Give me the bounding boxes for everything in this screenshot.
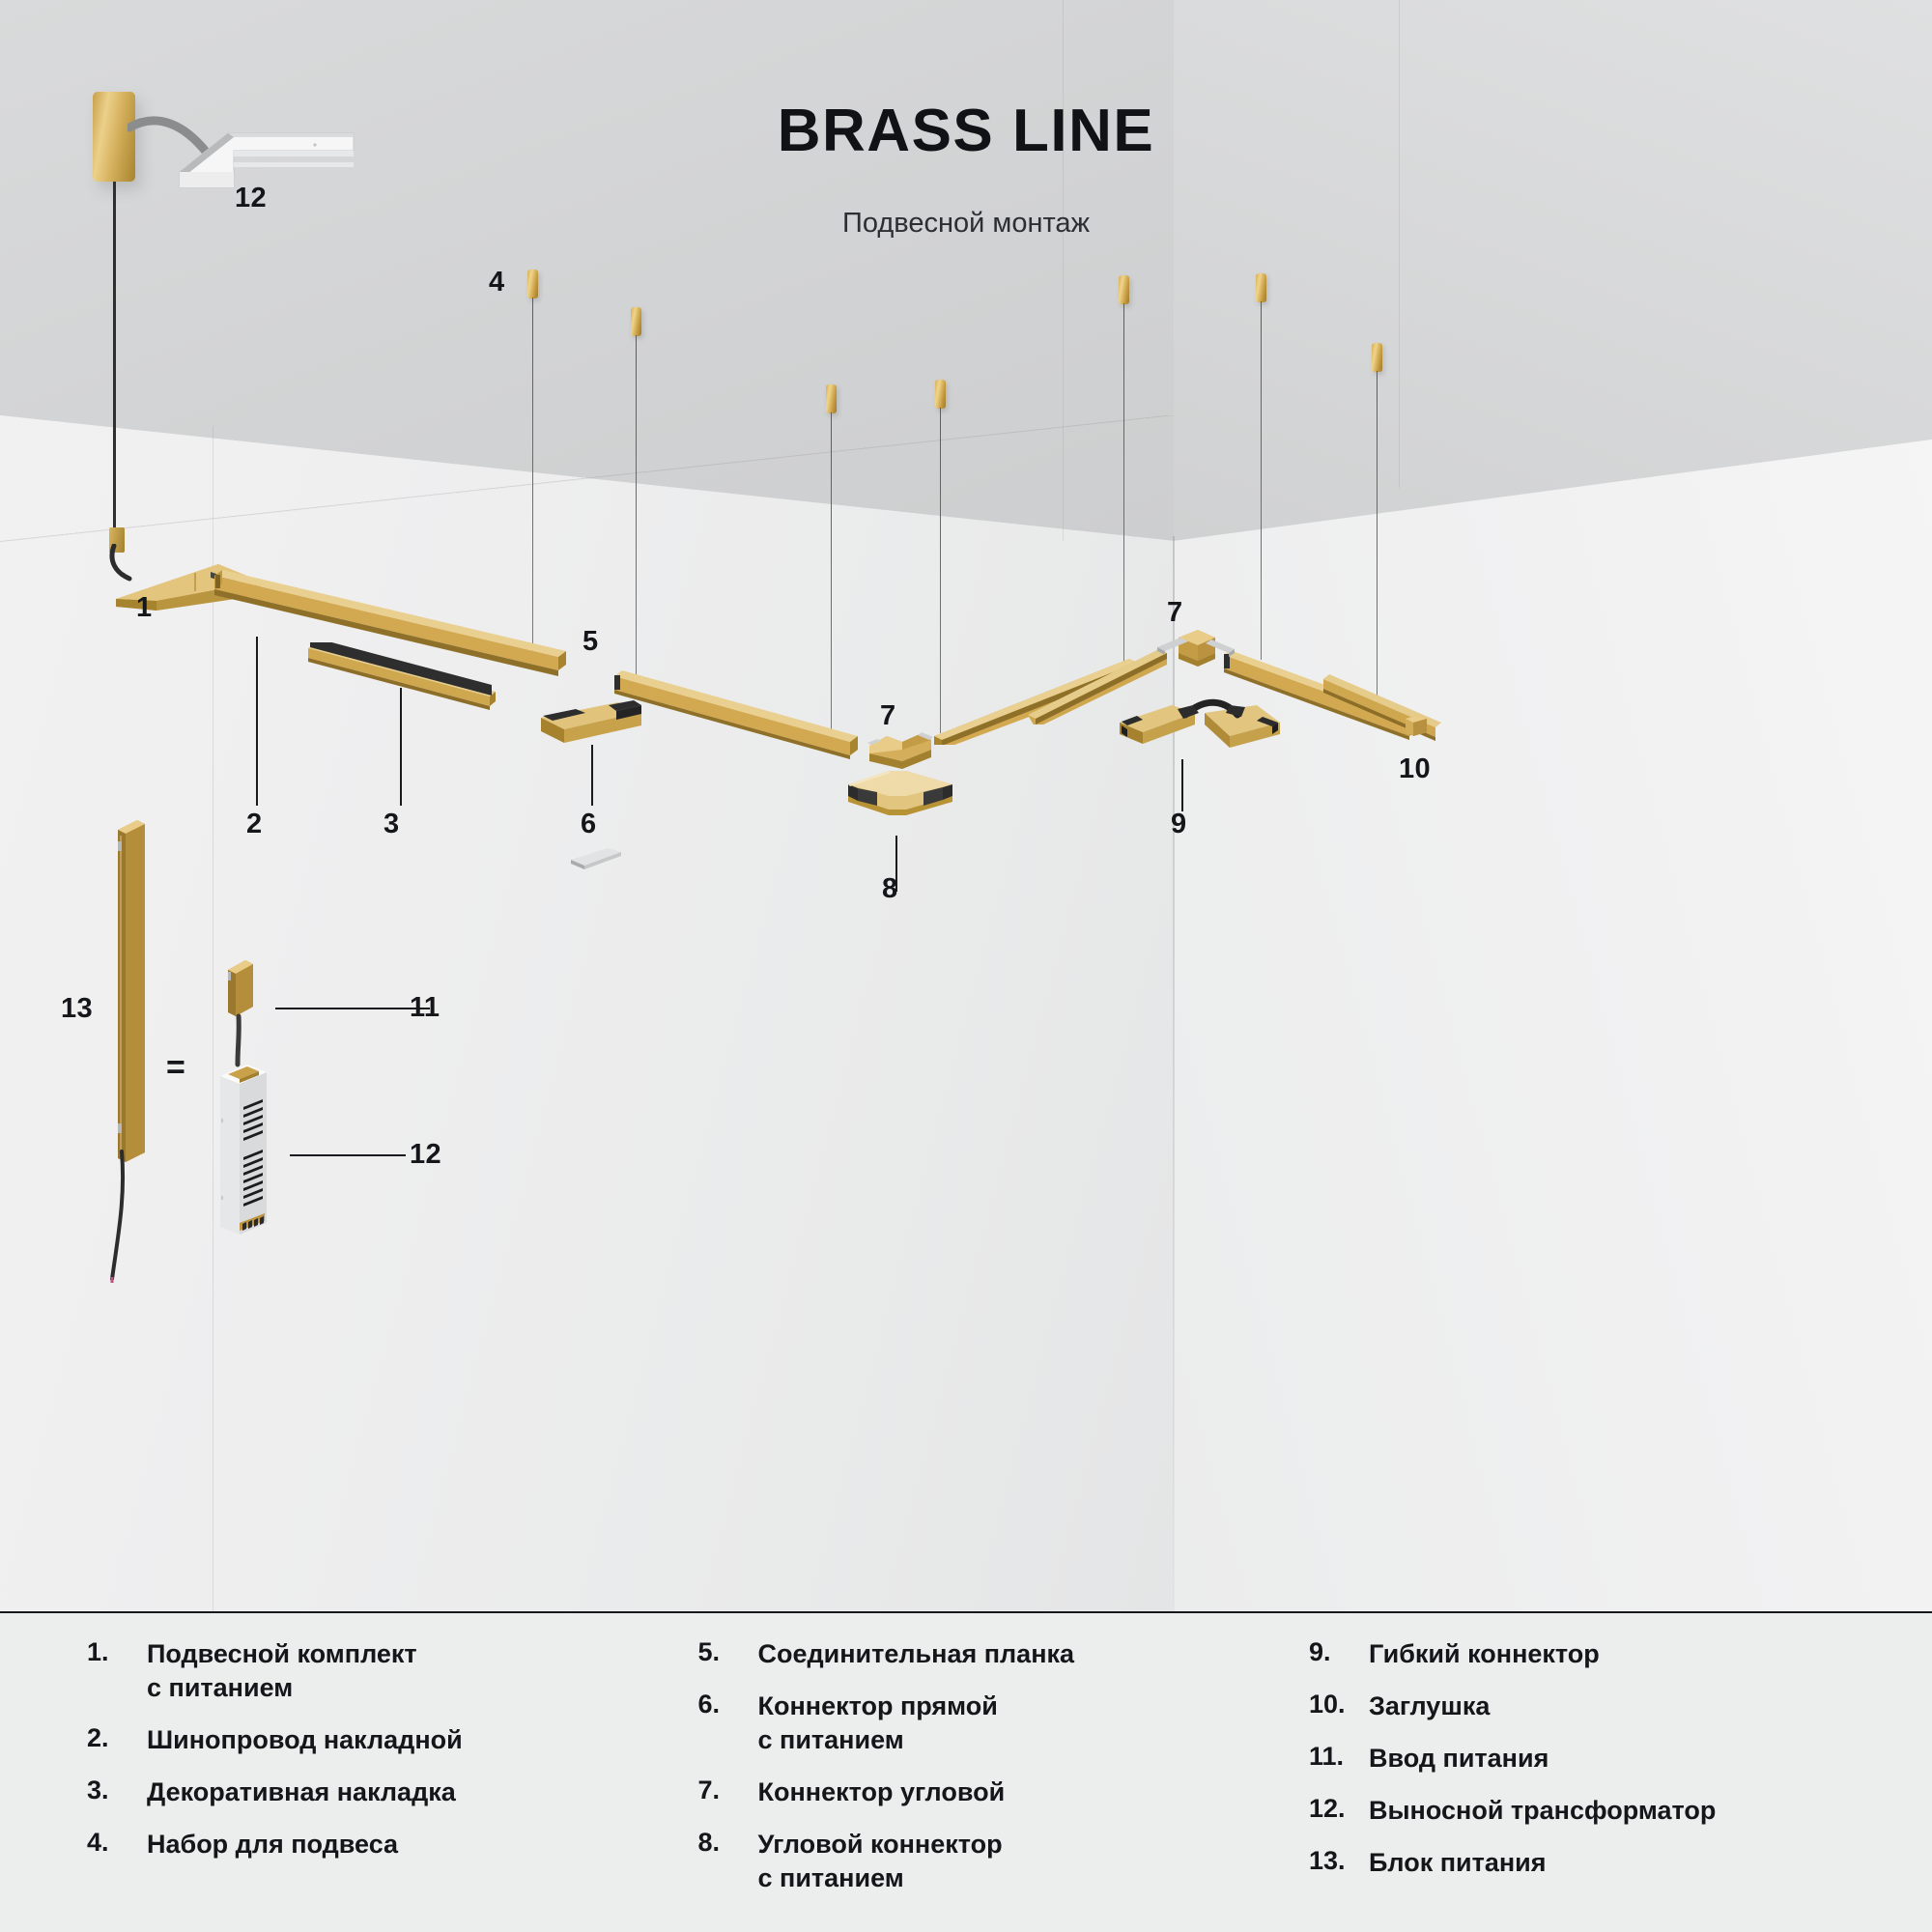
leader-2 bbox=[256, 637, 258, 806]
legend-item: 1. Подвесной комплект с питанием bbox=[87, 1637, 698, 1705]
leader-3 bbox=[400, 688, 402, 806]
leader-6 bbox=[591, 745, 593, 806]
ceiling-mount-2 bbox=[631, 307, 641, 336]
legend-item-label: Заглушка bbox=[1369, 1690, 1490, 1723]
ceiling-mount-1 bbox=[527, 270, 538, 298]
ceiling-mount-5 bbox=[1119, 275, 1129, 304]
page-title: BRASS LINE bbox=[0, 97, 1932, 165]
legend-item: 10. Заглушка bbox=[1309, 1690, 1864, 1723]
legend-column-3: 9. Гибкий коннектор 10. Заглушка 11. Вво… bbox=[1309, 1637, 1864, 1932]
end-cap bbox=[1402, 713, 1431, 742]
legend-item-number: 11. bbox=[1309, 1742, 1369, 1776]
flexible-connector bbox=[1116, 694, 1285, 757]
legend-item: 13. Блок питания bbox=[1309, 1846, 1864, 1880]
callout-10: 10 bbox=[1399, 755, 1431, 783]
page-subtitle: Подвесной монтаж bbox=[0, 208, 1932, 240]
wall-seam-b bbox=[1063, 0, 1064, 541]
legend-item: 5. Соединительная планка bbox=[698, 1637, 1310, 1671]
callout-11: 11 bbox=[410, 994, 440, 1022]
legend-item: 6. Коннектор прямой с питанием bbox=[698, 1690, 1310, 1757]
connecting-plate bbox=[569, 846, 623, 871]
legend-item-label: Шинопровод накладной bbox=[147, 1723, 463, 1757]
legend-item-label: Ввод питания bbox=[1369, 1742, 1548, 1776]
remote-transformer-box bbox=[214, 1061, 282, 1235]
legend-item: 8. Угловой коннектор с питанием bbox=[698, 1828, 1310, 1895]
legend-item-number: 6. bbox=[698, 1690, 758, 1757]
leader-9 bbox=[1181, 759, 1183, 811]
suspension-cable-2 bbox=[636, 335, 637, 676]
legend-item: 9. Гибкий коннектор bbox=[1309, 1637, 1864, 1671]
callout-12-bottom: 12 bbox=[410, 1141, 441, 1169]
callout-8: 8 bbox=[882, 875, 898, 903]
callout-6: 6 bbox=[581, 810, 597, 838]
legend-item-label: Блок питания bbox=[1369, 1846, 1547, 1880]
legend-item-number: 4. bbox=[87, 1828, 147, 1861]
leader-11 bbox=[275, 1008, 430, 1009]
legend-item-number: 13. bbox=[1309, 1846, 1369, 1880]
legend-item: 12. Выносной трансформатор bbox=[1309, 1794, 1864, 1828]
callout-13: 13 bbox=[61, 995, 93, 1023]
legend-item-label: Гибкий коннектор bbox=[1369, 1637, 1600, 1671]
legend-divider bbox=[0, 1611, 1932, 1613]
power-input-connector bbox=[220, 954, 261, 1070]
equals-symbol: = bbox=[166, 1049, 185, 1087]
callout-4: 4 bbox=[489, 269, 505, 297]
legend-item-label: Коннектор угловой bbox=[758, 1776, 1006, 1809]
callout-1: 1 bbox=[136, 594, 153, 622]
legend-item: 4. Набор для подвеса bbox=[87, 1828, 698, 1861]
legend-item-label: Выносной трансформатор bbox=[1369, 1794, 1716, 1828]
suspension-cable-6 bbox=[1261, 301, 1262, 660]
angular-connector-with-power bbox=[842, 767, 958, 825]
legend-item: 7. Коннектор угловой bbox=[698, 1776, 1310, 1809]
callout-7-left: 7 bbox=[880, 702, 896, 730]
ceiling-mount-6 bbox=[1256, 273, 1266, 302]
room-scene: 12 1 2 bbox=[0, 0, 1932, 1611]
legend-item-label: Соединительная планка bbox=[758, 1637, 1075, 1671]
legend-item: 3. Декоративная накладка bbox=[87, 1776, 698, 1809]
ceiling-mount-4 bbox=[935, 380, 946, 409]
legend: 1. Подвесной комплект с питанием 2. Шино… bbox=[0, 1637, 1932, 1932]
leader-12 bbox=[290, 1154, 406, 1156]
callout-3: 3 bbox=[384, 810, 400, 838]
legend-item: 2. Шинопровод накладной bbox=[87, 1723, 698, 1757]
legend-item: 11. Ввод питания bbox=[1309, 1742, 1864, 1776]
legend-item-number: 10. bbox=[1309, 1690, 1369, 1723]
legend-column-1: 1. Подвесной комплект с питанием 2. Шино… bbox=[87, 1637, 698, 1932]
legend-item-number: 7. bbox=[698, 1776, 758, 1809]
callout-9: 9 bbox=[1171, 810, 1187, 838]
legend-item-label: Декоративная накладка bbox=[147, 1776, 456, 1809]
suspension-cable-5 bbox=[1123, 303, 1124, 663]
legend-item-number: 12. bbox=[1309, 1794, 1369, 1828]
legend-item-label: Подвесной комплект с питанием bbox=[147, 1637, 417, 1705]
corner-connector-right bbox=[1151, 628, 1243, 678]
ceiling-mount-7 bbox=[1372, 343, 1382, 372]
legend-item-number: 5. bbox=[698, 1637, 758, 1671]
wall-seam-c bbox=[1399, 0, 1400, 488]
legend-item-number: 8. bbox=[698, 1828, 758, 1895]
power-supply-cable bbox=[104, 1150, 143, 1285]
diagram-canvas: 12 1 2 bbox=[0, 0, 1932, 1932]
surface-track-profile-b bbox=[612, 668, 864, 760]
straight-connector-with-power bbox=[537, 700, 645, 751]
legend-item-number: 9. bbox=[1309, 1637, 1369, 1671]
legend-item-label: Набор для подвеса bbox=[147, 1828, 398, 1861]
legend-item-number: 3. bbox=[87, 1776, 147, 1809]
callout-5: 5 bbox=[582, 628, 599, 656]
legend-item-label: Угловой коннектор с питанием bbox=[758, 1828, 1003, 1895]
ceiling-mount-3 bbox=[826, 384, 837, 413]
legend-item-number: 1. bbox=[87, 1637, 147, 1705]
callout-7-right: 7 bbox=[1167, 599, 1183, 627]
legend-item-number: 2. bbox=[87, 1723, 147, 1757]
legend-column-2: 5. Соединительная планка 6. Коннектор пр… bbox=[698, 1637, 1310, 1932]
legend-item-label: Коннектор прямой с питанием bbox=[758, 1690, 998, 1757]
callout-2: 2 bbox=[246, 810, 263, 838]
decorative-cover-profile bbox=[306, 642, 499, 715]
